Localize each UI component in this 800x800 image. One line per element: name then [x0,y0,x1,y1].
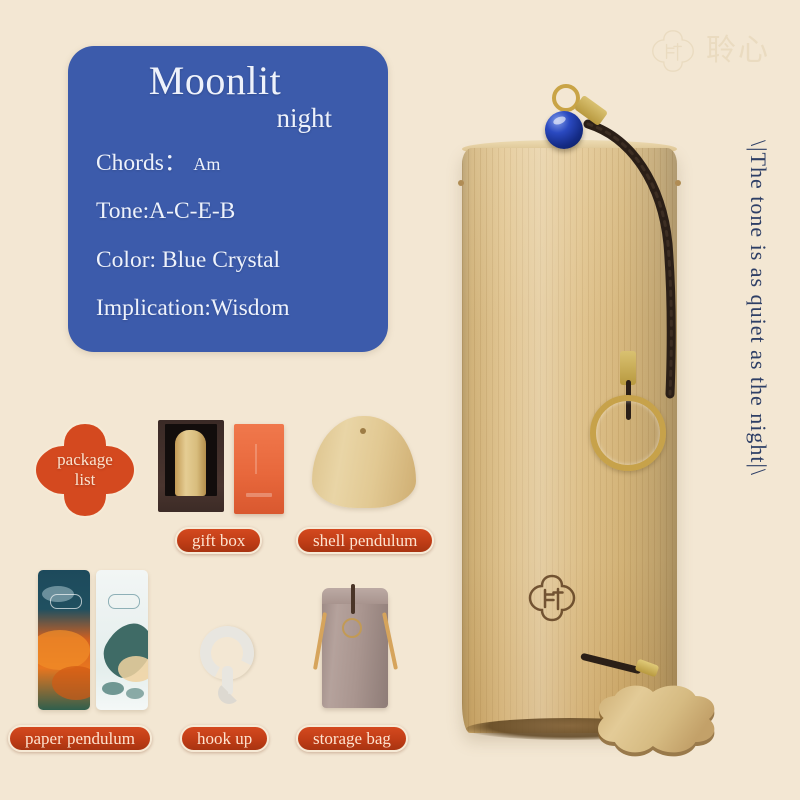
photo-storage-bag [312,578,400,710]
bookmark-left-tag [50,594,82,609]
bookmark-right-dot-right [126,688,144,699]
watermark-characters: 聆心 [706,36,770,66]
product-title: Moonlit [68,60,388,102]
hook-tip [218,682,240,704]
bookmark-right-dot-left [102,682,124,695]
bamboo-cloud-pendant [570,680,745,766]
photo-hook-up [192,620,266,710]
spec-row-chords: Chords：Am [96,152,388,176]
bookmark-right-accent-low [118,656,148,682]
spec-row-color: Color: Blue Crystal [96,249,388,273]
label-gift-box: gift box [175,527,262,554]
spec-row-tone: Tone:A-C-E-B [96,200,388,224]
product-info-card: Moonlit night Chords：Am Tone:A-C-E-B Col… [68,46,388,352]
gift-box-orange-sleeve [234,424,284,514]
spec-value-chords: Am [187,154,220,174]
bookmark-left-accent-mid [38,630,90,670]
gift-box-chime-inside [175,430,206,496]
bamboo-wind-chime [440,70,770,790]
label-shell-pendulum: shell pendulum [296,527,434,554]
cylinder-pin-left [458,180,464,186]
storage-bag-cord-knot [351,584,355,614]
bookmark-right-tag [108,594,140,609]
bookmark-left-accent-low [52,666,90,700]
quatrefoil-logo-icon [527,573,577,623]
storage-bag-logo-tag [342,618,362,638]
bookmark-card-left [38,570,90,710]
gift-box-sleeve-text-mark [246,493,272,497]
quatrefoil-logo-icon [650,28,696,74]
spec-label-chords: Chords： [96,150,187,176]
spec-row-implication: Implication:Wisdom [96,297,388,321]
storage-bag-body [322,592,388,708]
storage-bag-top [322,588,388,604]
bookmark-card-right [96,570,148,710]
photo-gift-box [158,408,286,516]
photo-paper-pendulum [38,570,158,710]
photo-shell-pendulum [312,412,416,512]
gift-box-sleeve-line [255,444,257,474]
shell-pendulum-hole [360,428,366,434]
product-marketing-image: 聆心 Moonlit night Chords：Am Tone:A-C-E-B … [0,0,800,800]
package-list-badge-text: package list [32,420,138,520]
brass-striker-ring [590,395,666,471]
label-hook-up: hook up [180,725,269,752]
label-paper-pendulum: paper pendulum [8,725,152,752]
spec-list: Chords：Am Tone:A-C-E-B Color: Blue Cryst… [68,152,388,321]
label-storage-bag: storage bag [296,725,408,752]
badge-line-1: package [57,450,113,470]
product-subtitle: night [68,104,388,134]
badge-line-2: list [75,470,96,490]
package-list-badge: package list [32,420,138,520]
